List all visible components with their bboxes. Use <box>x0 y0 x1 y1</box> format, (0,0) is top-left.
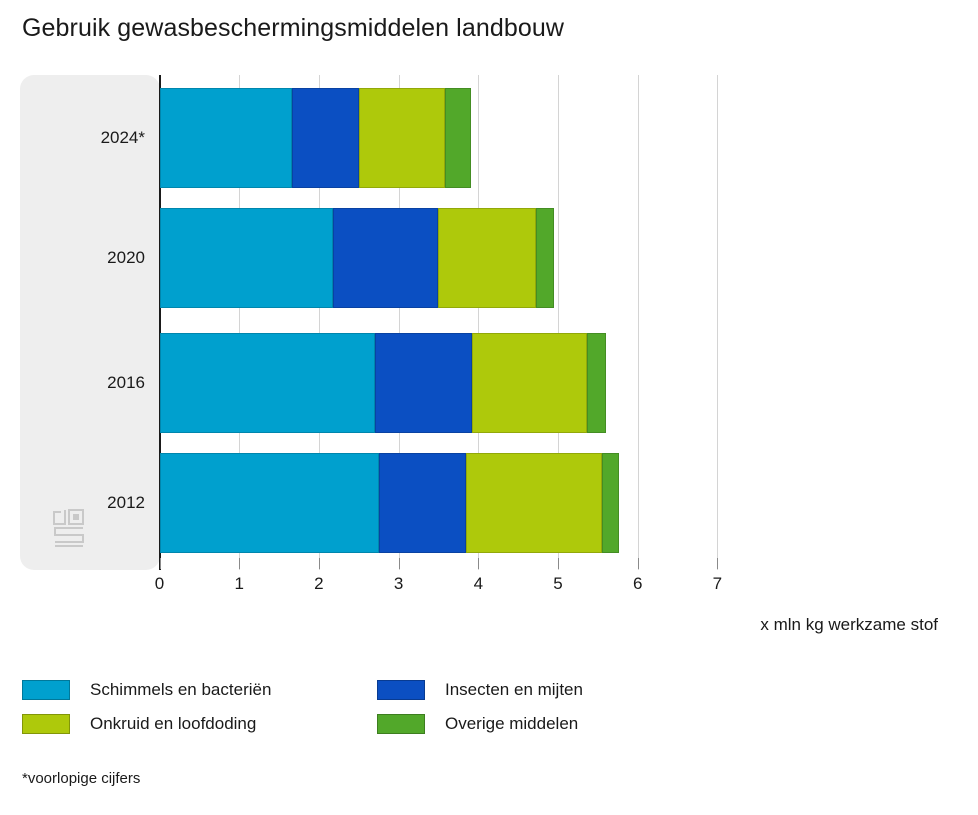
legend-swatch <box>377 714 425 734</box>
bar-segment[interactable] <box>359 88 445 188</box>
bar-segment[interactable] <box>587 333 606 433</box>
category-label: 2016 <box>107 373 145 393</box>
bar-segment[interactable] <box>333 208 438 308</box>
bar-segment[interactable] <box>602 453 620 553</box>
footnote: *voorlopige cijfers <box>22 770 140 787</box>
x-tick-mark <box>558 558 559 569</box>
x-tick-label: 1 <box>234 574 243 594</box>
bar-segment[interactable] <box>160 88 292 188</box>
x-tick-mark <box>638 558 639 569</box>
x-tick-label: 6 <box>633 574 642 594</box>
x-tick-label: 2 <box>314 574 323 594</box>
x-tick-label: 7 <box>713 574 722 594</box>
bar-row[interactable] <box>160 88 473 188</box>
legend-label: Insecten en mijten <box>445 680 583 700</box>
bar-row[interactable] <box>160 208 556 308</box>
bar-segment[interactable] <box>536 208 554 308</box>
page-title: Gebruik gewasbeschermingsmiddelen landbo… <box>22 14 564 43</box>
legend-item[interactable]: Schimmels en bacteriën <box>22 680 271 700</box>
bar-segment[interactable] <box>438 208 536 308</box>
legend-item[interactable]: Insecten en mijten <box>377 680 583 700</box>
bar-row[interactable] <box>160 453 621 553</box>
bar-row[interactable] <box>160 333 608 433</box>
legend-swatch <box>377 680 425 700</box>
category-label: 2020 <box>107 248 145 268</box>
legend-item[interactable]: Onkruid en loofdoding <box>22 714 256 734</box>
x-tick-mark <box>478 558 479 569</box>
legend-label: Overige middelen <box>445 714 578 734</box>
bar-segment[interactable] <box>466 453 601 553</box>
bar-segment[interactable] <box>160 453 379 553</box>
x-tick-mark <box>239 558 240 569</box>
legend-item[interactable]: Overige middelen <box>377 714 578 734</box>
category-label: 2024* <box>101 128 145 148</box>
x-tick-mark <box>717 558 718 569</box>
x-tick-label: 5 <box>553 574 562 594</box>
bar-segment[interactable] <box>472 333 588 433</box>
bar-segment[interactable] <box>292 88 360 188</box>
bar-segment[interactable] <box>375 333 471 433</box>
legend-swatch <box>22 680 70 700</box>
bar-segment[interactable] <box>160 333 375 433</box>
x-tick-mark <box>160 558 161 569</box>
cbs-logo <box>52 506 92 550</box>
x-tick-label: 3 <box>394 574 403 594</box>
category-label: 2012 <box>107 493 145 513</box>
x-tick-label: 0 <box>155 574 164 594</box>
x-tick-mark <box>399 558 400 569</box>
bar-segment[interactable] <box>160 208 333 308</box>
legend-swatch <box>22 714 70 734</box>
bar-segment[interactable] <box>379 453 466 553</box>
bar-segment[interactable] <box>445 88 471 188</box>
legend-label: Schimmels en bacteriën <box>90 680 271 700</box>
gridline <box>638 75 639 570</box>
x-axis-unit-label: x mln kg werkzame stof <box>760 615 938 635</box>
gridline <box>717 75 718 570</box>
x-tick-mark <box>319 558 320 569</box>
x-tick-label: 4 <box>474 574 483 594</box>
plot-area: 2024*202020162012 <box>0 60 978 575</box>
x-axis: 01234567 x mln kg werkzame stof <box>0 570 978 630</box>
legend-label: Onkruid en loofdoding <box>90 714 256 734</box>
